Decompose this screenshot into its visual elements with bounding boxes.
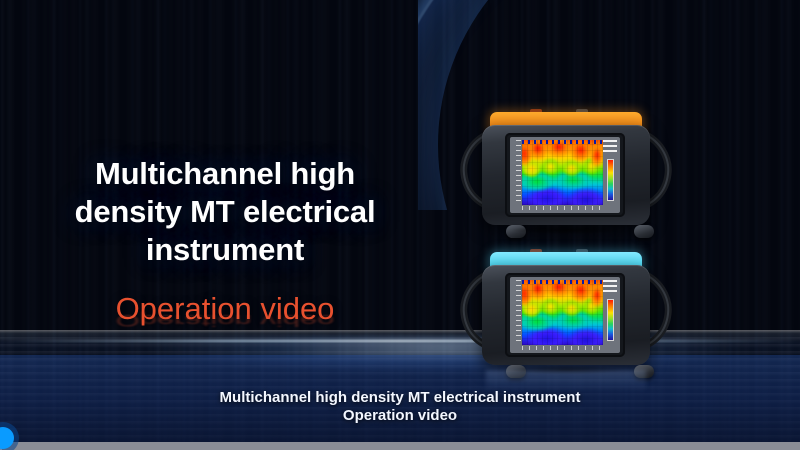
caption-line-2: Operation video: [100, 407, 700, 425]
plot-station-markers: [522, 280, 603, 284]
video-scrubber-track[interactable]: [0, 442, 800, 450]
plot-contour-speckle: [522, 140, 603, 205]
plot-legend-lines: [603, 140, 617, 154]
plot-colorbar: [607, 159, 614, 201]
pseudosection-plot: [522, 140, 603, 205]
caption: Multichannel high density MT electrical …: [100, 389, 700, 426]
plot-legend-lines: [603, 280, 617, 294]
pseudosection-plot: [522, 280, 603, 345]
device-orange: [468, 112, 664, 234]
headline-line-3: instrument: [30, 231, 420, 269]
video-frame: Multichannel high density MT electrical …: [0, 0, 800, 450]
plot-x-axis-ticks: [522, 206, 603, 210]
plot-station-markers: [522, 140, 603, 144]
headline-line-1: Multichannel high: [30, 155, 420, 193]
headline-line-2: density MT electrical: [30, 193, 420, 231]
plot-contour-speckle: [522, 280, 603, 345]
plot-y-axis-ticks: [516, 280, 521, 345]
device-body: [482, 125, 650, 225]
device-screen[interactable]: [510, 277, 620, 353]
device-bezel: [505, 133, 625, 217]
horizon-line: [0, 340, 800, 342]
device-shadow: [492, 224, 642, 236]
subtitle-reflection: Operation video: [30, 311, 420, 330]
device-cyan: [468, 252, 664, 374]
caption-line-1: Multichannel high density MT electrical …: [100, 389, 700, 407]
device-bezel: [505, 273, 625, 357]
plot-colorbar: [607, 299, 614, 341]
device-screen[interactable]: [510, 137, 620, 213]
plot-y-axis-ticks: [516, 140, 521, 205]
page-title: Multichannel high density MT electrical …: [30, 155, 420, 268]
plot-x-axis-ticks: [522, 346, 603, 350]
device-body: [482, 265, 650, 365]
